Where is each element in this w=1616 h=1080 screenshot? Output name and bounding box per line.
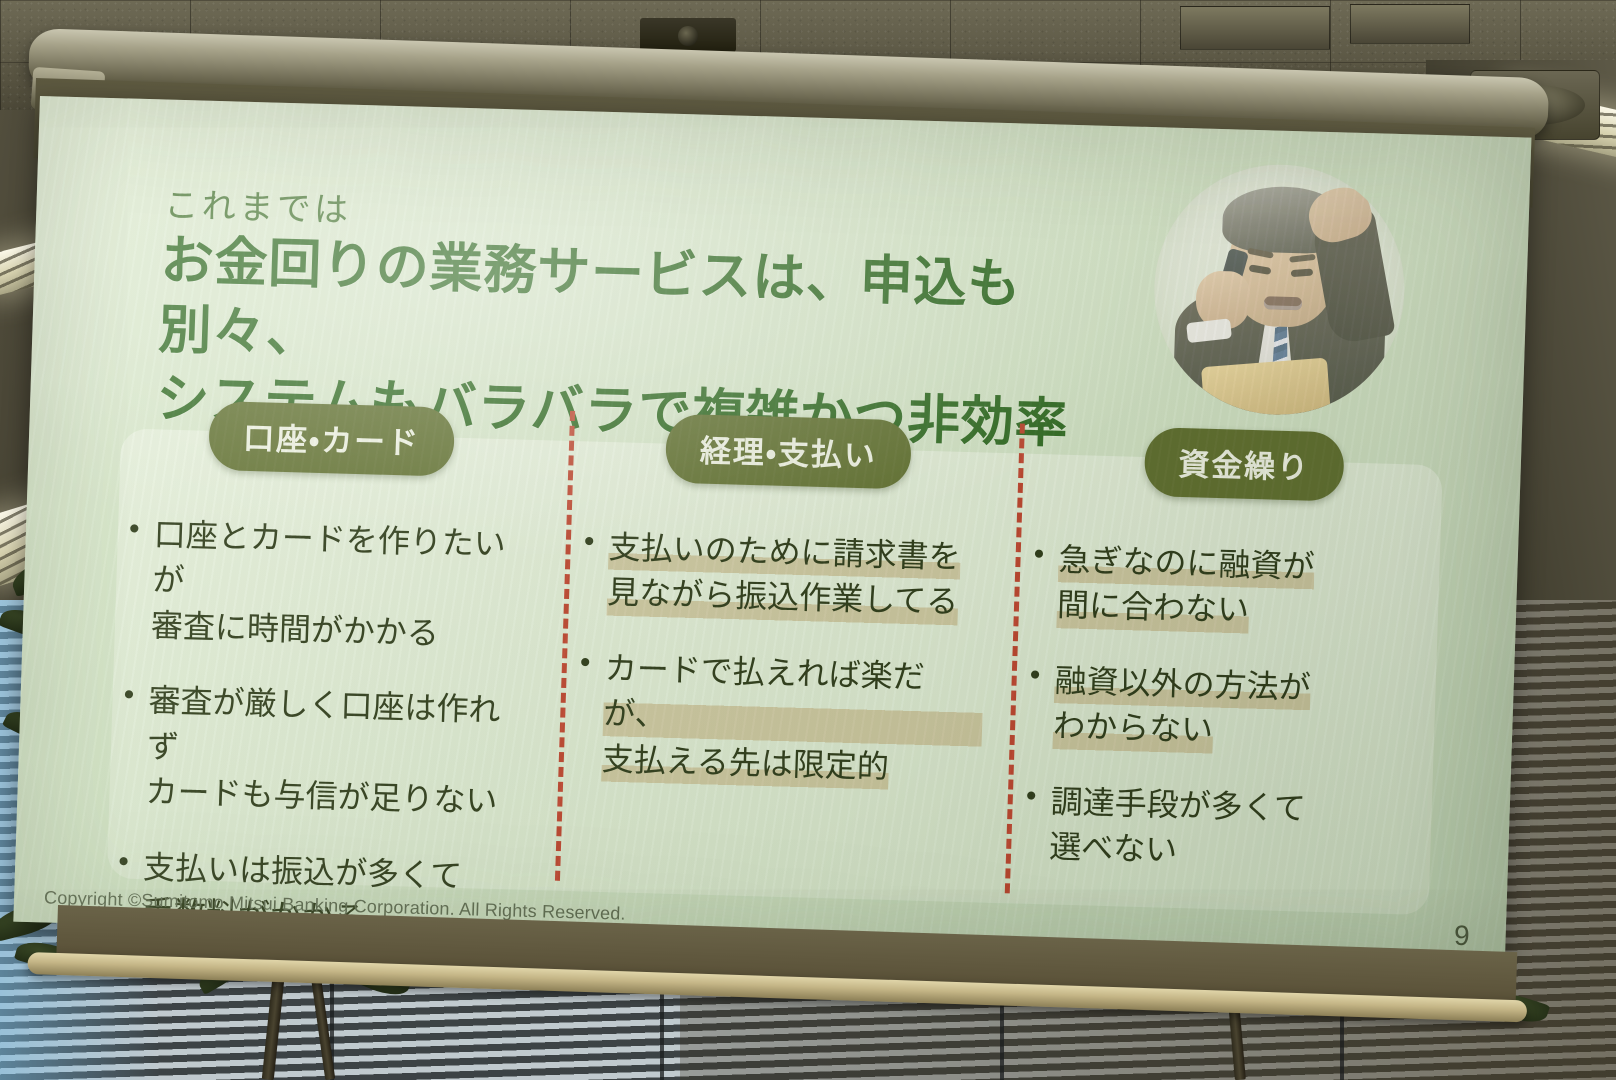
bullet-line: 融資以外の方法が (1054, 658, 1311, 711)
column-accounting-payments: 経理・支払い 支払いのために請求書を 見ながら振込作業してる カードで払えれば楽… (560, 411, 992, 942)
list-item: 融資以外の方法が わからない (1022, 658, 1434, 760)
ceiling-vent (1180, 6, 1330, 50)
room-photo-scene: これまでは お金回りの業務サービスは、申込も別々、 システムもバラバラで複雑かつ… (0, 0, 1616, 1080)
slide-kicker: これまでは (164, 178, 353, 232)
photo-projection-wash (1150, 161, 1408, 418)
bullet-line: 急ぎなのに融資が (1058, 538, 1315, 591)
column-2-bullets: 支払いのために請求書を 見ながら振込作業してる カードで払えれば楽だが、 支払え… (565, 524, 988, 793)
column-2-header-pill: 経理・支払い (665, 414, 912, 490)
bullet-line: カードも与信が足りない (145, 769, 525, 825)
column-1-bullets: 口座とカードを作りたいが 審査に時間がかかる 審査が厳しく口座は作れず カードも… (105, 511, 534, 946)
columns-container: 口座・カード 口座とカードを作りたいが 審査に時間がかかる 審査が厳しく口座は作… (105, 398, 1451, 955)
page-number: 9 (1454, 920, 1471, 952)
bullet-line: 口座とカードを作りたいが (152, 512, 534, 613)
list-item: カードで払えれば楽だが、 支払える先は限定的 (571, 645, 984, 793)
ceiling-vent (1350, 4, 1470, 44)
presentation-slide: これまでは お金回りの業務サービスは、申込も別々、 システムもバラバラで複雑かつ… (13, 96, 1531, 963)
ceiling-mount-bracket (640, 18, 736, 52)
bullet-line: 間に合わない (1056, 583, 1249, 634)
column-cash-flow: 資金繰り 急ぎなのに融資が 間に合わない 融資以外の方法が わからない 調達手段… (1010, 424, 1442, 955)
troubled-businessman-photo (1150, 161, 1408, 418)
list-item: 急ぎなのに融資が 間に合わない (1026, 537, 1438, 639)
bullet-line: 審査に時間がかかる (150, 603, 530, 659)
bullet-line: カードで払えれば楽だが、 (603, 646, 985, 747)
column-2-header-wrap: 経理・支払い (575, 411, 992, 492)
column-1-header-pill: 口座・カード (208, 401, 455, 477)
bullet-line: 支払える先は限定的 (601, 737, 889, 790)
column-1-header-wrap: 口座・カード (120, 398, 537, 479)
list-item: 口座とカードを作りたいが 審査に時間がかかる (120, 512, 533, 660)
list-item: 調達手段が多くて 選べない (1019, 778, 1431, 880)
list-item: 支払いのために請求書を 見ながら振込作業してる (577, 524, 989, 626)
bullet-line: 選べない (1049, 825, 1429, 881)
column-3-bullets: 急ぎなのに融資が 間に合わない 融資以外の方法が わからない 調達手段が多くて … (1013, 537, 1439, 881)
column-3-header-wrap: 資金繰り (1025, 424, 1442, 505)
column-accounts-cards: 口座・カード 口座とカードを作りたいが 審査に時間がかかる 審査が厳しく口座は作… (105, 398, 537, 929)
projector-screen: これまでは お金回りの業務サービスは、申込も別々、 システムもバラバラで複雑かつ… (13, 96, 1531, 963)
list-item: 審査が厳しく口座は作れず カードも与信が足りない (115, 678, 528, 826)
bullet-line: 見ながら振込作業してる (607, 570, 959, 625)
bullet-line: 審査が厳しく口座は作れず (146, 679, 528, 780)
bullet-line: わからない (1052, 704, 1213, 754)
column-3-header-pill: 資金繰り (1143, 427, 1345, 502)
